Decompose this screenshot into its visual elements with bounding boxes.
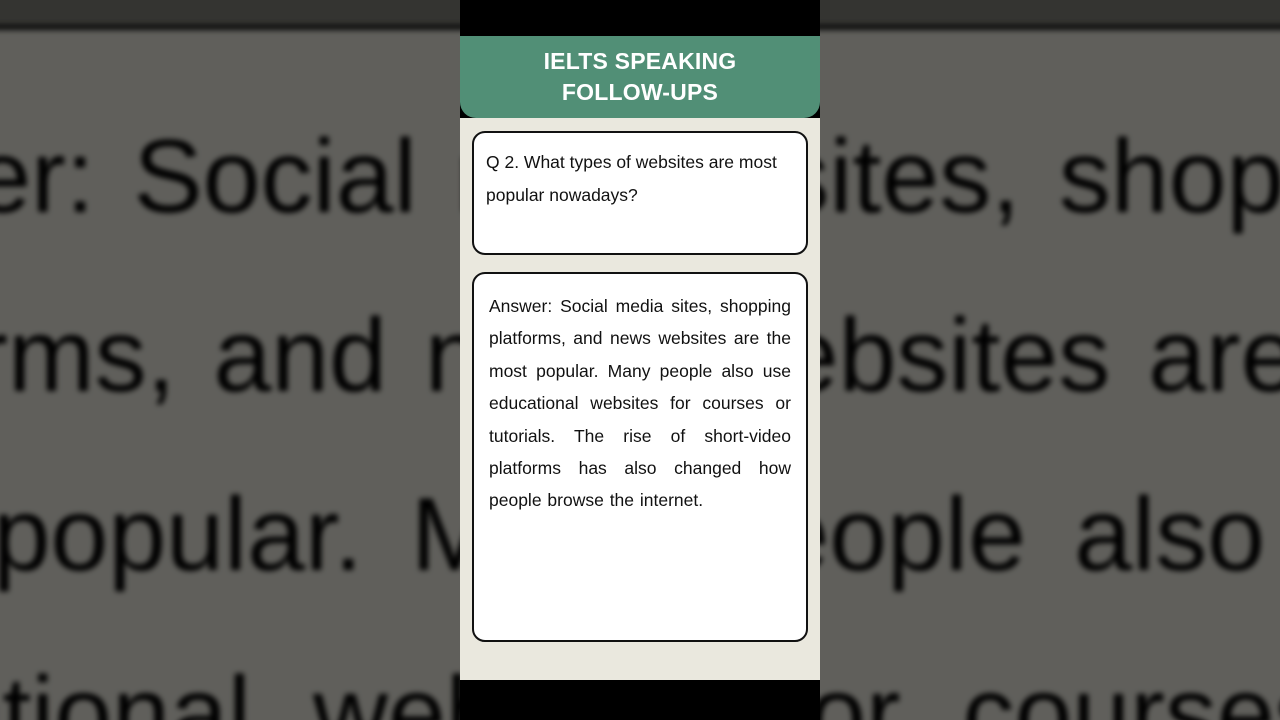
- video-frame: Answer: Social media sites, shopping pla…: [0, 0, 1280, 720]
- answer-box: Answer: Social media sites, shopping pla…: [472, 272, 808, 642]
- header-title-line-1: IELTS SPEAKING: [544, 46, 737, 77]
- header-title-line-2: FOLLOW-UPS: [562, 77, 718, 108]
- card-header: IELTS SPEAKING FOLLOW-UPS: [460, 36, 820, 118]
- question-box: Q 2. What types of websites are most pop…: [472, 131, 808, 255]
- letterbox-bar-top: [460, 0, 820, 36]
- content-card: IELTS SPEAKING FOLLOW-UPS Q 2. What type…: [460, 0, 820, 720]
- card-sheet: Q 2. What types of websites are most pop…: [460, 118, 820, 680]
- letterbox-bar-bottom: [460, 680, 820, 720]
